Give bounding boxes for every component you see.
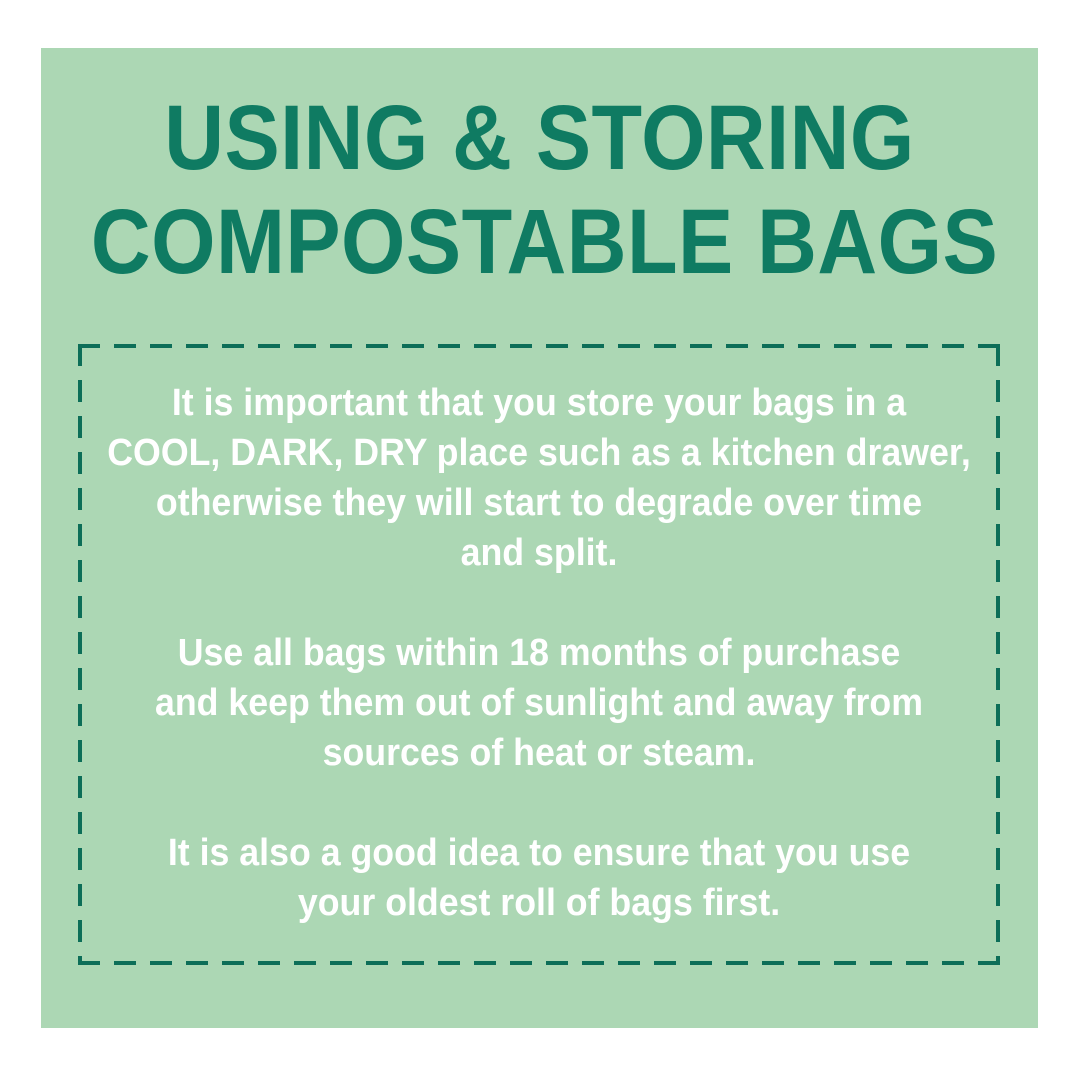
infographic-canvas: USING & STORING COMPOSTABLE BAGS It is i… bbox=[0, 0, 1080, 1080]
paragraph-line: Use all bags within 18 months of purchas… bbox=[106, 628, 973, 678]
body-copy: It is important that you store your bags… bbox=[78, 378, 1000, 928]
title-line-2: COMPOSTABLE BAGS bbox=[91, 190, 988, 294]
paragraph-line: and keep them out of sunlight and away f… bbox=[106, 678, 973, 728]
paragraph-line: otherwise they will start to degrade ove… bbox=[106, 478, 973, 528]
paragraph-line: COOL, DARK, DRY place such as a kitchen … bbox=[106, 428, 973, 478]
paragraph-use-oldest-roll-first: It is also a good idea to ensure that yo… bbox=[106, 828, 973, 928]
title-line-1: USING & STORING bbox=[91, 86, 988, 190]
dashed-border-top bbox=[78, 344, 1000, 348]
paragraph-line: It is important that you store your bags… bbox=[106, 378, 973, 428]
paragraph-line: sources of heat or steam. bbox=[106, 728, 973, 778]
dashed-border-bottom bbox=[78, 961, 1000, 965]
paragraph-storage-conditions: It is important that you store your bags… bbox=[106, 378, 973, 578]
paragraph-use-within-18-months: Use all bags within 18 months of purchas… bbox=[106, 628, 973, 778]
paragraph-line: and split. bbox=[106, 528, 973, 578]
paragraph-line: It is also a good idea to ensure that yo… bbox=[106, 828, 973, 878]
page-title: USING & STORING COMPOSTABLE BAGS bbox=[41, 86, 1038, 294]
green-card-panel: USING & STORING COMPOSTABLE BAGS It is i… bbox=[41, 48, 1038, 1028]
paragraph-line: your oldest roll of bags first. bbox=[106, 878, 973, 928]
